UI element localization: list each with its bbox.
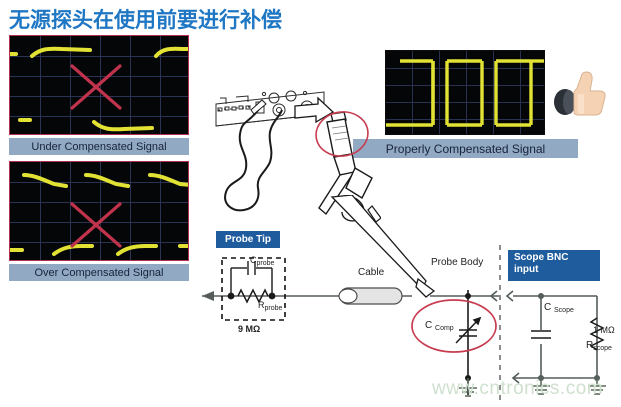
watermark: www.cntronics.com — [432, 378, 603, 400]
slide-canvas: 无源探头在使用前要进行补偿 — [0, 0, 621, 407]
label-r-scope-sub: scope — [593, 345, 612, 352]
page-title: 无源探头在使用前要进行补偿 — [9, 4, 282, 34]
probe-leader-lines — [330, 195, 460, 315]
scope-waveform-undercompensated — [10, 36, 189, 135]
label-1-megohm: 1 MΩ — [593, 325, 615, 335]
chip-scope-bnc-input: Scope BNC input — [508, 250, 600, 281]
caption-overcompensated: Over Compensated Signal — [9, 264, 189, 281]
label-c-probe: Cprobe — [250, 255, 274, 267]
label-cable: Cable — [358, 267, 384, 278]
label-c-comp-sub: Comp — [435, 325, 454, 332]
scope-screenshot-properly — [385, 50, 545, 135]
label-r-probe-sub: probe — [265, 305, 283, 312]
label-r-scope: Rscope — [586, 340, 612, 352]
label-c-scope: C Scope — [544, 302, 574, 314]
label-c-scope-sub: Scope — [554, 307, 574, 314]
scope-waveform-properly — [386, 51, 545, 135]
caption-undercompensated: Under Compensated Signal — [9, 138, 189, 155]
label-c-probe-sub: probe — [257, 260, 275, 267]
thumbs-up-icon — [552, 62, 614, 124]
chip-scope-bnc-line1: Scope BNC — [514, 252, 568, 263]
label-c-comp: C Comp — [425, 320, 454, 332]
scope-waveform-overcompensated — [10, 162, 189, 261]
label-9-megohm: 9 MΩ — [238, 324, 260, 334]
red-cross-icon — [72, 66, 120, 108]
scope-screenshot-overcompensated — [9, 161, 189, 261]
label-r-probe: Rprobe — [258, 300, 282, 312]
label-c-comp-main: C — [425, 320, 432, 331]
chip-probe-tip: Probe Tip — [216, 231, 280, 248]
chip-scope-bnc-line2: input — [514, 264, 538, 275]
scope-screenshot-undercompensated — [9, 35, 189, 135]
label-c-scope-main: C — [544, 302, 551, 313]
red-cross-icon — [72, 204, 120, 246]
label-probe-body: Probe Body — [431, 257, 483, 268]
caption-properly: Properly Compensated Signal — [353, 139, 578, 158]
